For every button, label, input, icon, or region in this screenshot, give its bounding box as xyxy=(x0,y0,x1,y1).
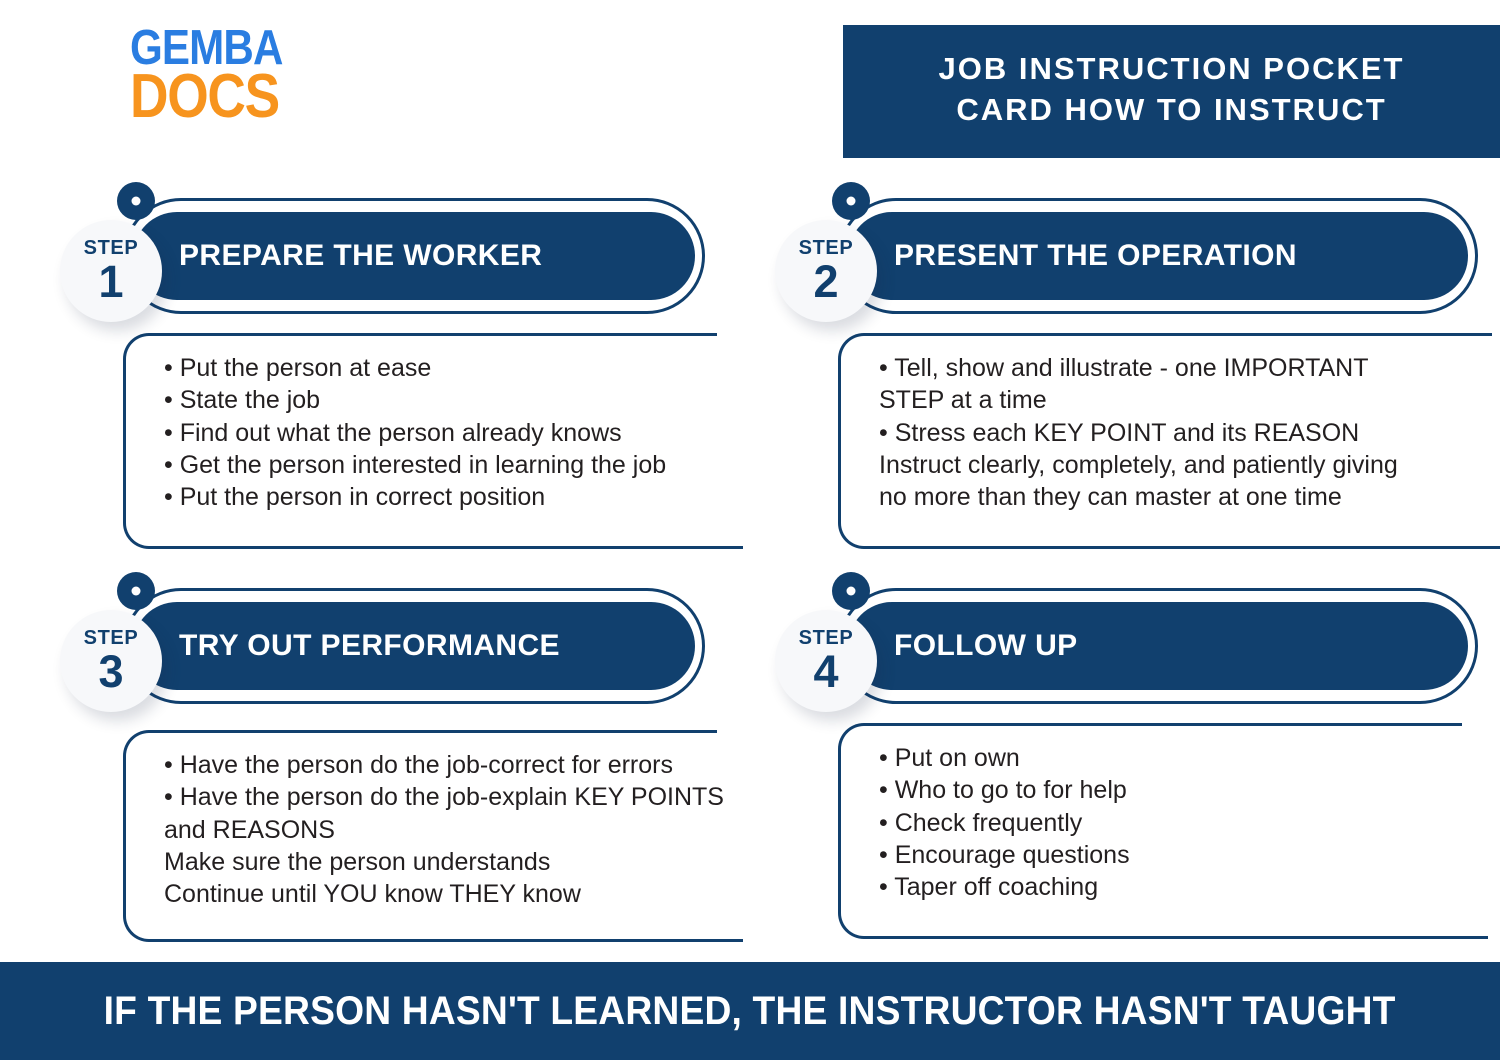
border-mask xyxy=(1492,332,1500,338)
step-1-badge-number: 1 xyxy=(98,259,123,304)
step-2-body: • Tell, show and illustrate - one IMPORT… xyxy=(838,333,1500,549)
step-2-line-3: • Stress each KEY POINT and its REASON xyxy=(879,417,1500,449)
step-4-title: FOLLOW UP xyxy=(848,629,1078,663)
step-1-body: • Put the person at ease • State the job… xyxy=(123,333,743,549)
step-2-line-4: Instruct clearly, completely, and patien… xyxy=(879,449,1500,481)
header-title-line-1: JOB INSTRUCTION POCKET xyxy=(939,49,1405,90)
step-2-line-5: no more than they can master at one time xyxy=(879,481,1500,513)
step-3-body: • Have the person do the job-correct for… xyxy=(123,730,743,942)
footer-slogan: IF THE PERSON HASN'T LEARNED, THE INSTRU… xyxy=(104,989,1396,1034)
step-4-line-1: • Put on own xyxy=(879,742,1488,774)
step-3-title: TRY OUT PERFORMANCE xyxy=(133,629,560,663)
step-2-header-pill: PRESENT THE OPERATION xyxy=(848,212,1468,300)
step-3-line-5: Continue until YOU know THEY know xyxy=(164,878,743,910)
step-4-line-5: • Taper off coaching xyxy=(879,871,1488,903)
step-2-title: PRESENT THE OPERATION xyxy=(848,239,1297,273)
step-card-3: TRY OUT PERFORMANCE STEP 3 • Have the pe… xyxy=(45,580,705,945)
border-mask xyxy=(1462,722,1492,728)
header-title-line-2: CARD HOW TO INSTRUCT xyxy=(956,90,1386,131)
step-4-badge-label: STEP xyxy=(799,628,854,648)
header-banner: JOB INSTRUCTION POCKET CARD HOW TO INSTR… xyxy=(843,25,1500,158)
step-card-1: PREPARE THE WORKER STEP 1 • Put the pers… xyxy=(45,190,705,555)
step-3-badge: STEP 3 xyxy=(60,610,162,712)
step-1-line-2: • State the job xyxy=(164,384,743,416)
step-4-line-2: • Who to go to for help xyxy=(879,774,1488,806)
gemba-docs-logo: GEMBA DOCS xyxy=(130,28,307,123)
logo-word-docs: DOCS xyxy=(130,72,283,123)
step-1-line-4: • Get the person interested in learning … xyxy=(164,449,743,481)
step-2-badge: STEP 2 xyxy=(775,220,877,322)
step-1-line-1: • Put the person at ease xyxy=(164,352,743,384)
keyring-dot-icon xyxy=(117,182,155,220)
infographic-page: GEMBA DOCS JOB INSTRUCTION POCKET CARD H… xyxy=(0,0,1500,1060)
step-card-4: FOLLOW UP STEP 4 • Put on own • Who to g… xyxy=(760,580,1420,945)
step-1-line-3: • Find out what the person already knows xyxy=(164,417,743,449)
step-1-badge: STEP 1 xyxy=(60,220,162,322)
step-1-header-pill: PREPARE THE WORKER xyxy=(133,212,695,300)
keyring-dot-icon xyxy=(832,182,870,220)
step-2-line-2: STEP at a time xyxy=(879,384,1500,416)
step-2-badge-number: 2 xyxy=(813,259,838,304)
step-4-line-4: • Encourage questions xyxy=(879,839,1488,871)
footer-banner: IF THE PERSON HASN'T LEARNED, THE INSTRU… xyxy=(0,962,1500,1060)
step-3-badge-number: 3 xyxy=(98,649,123,694)
keyring-dot-icon xyxy=(117,572,155,610)
step-1-line-5: • Put the person in correct position xyxy=(164,481,743,513)
step-3-badge-label: STEP xyxy=(84,628,139,648)
step-3-line-1: • Have the person do the job-correct for… xyxy=(164,749,743,781)
step-2-line-1: • Tell, show and illustrate - one IMPORT… xyxy=(879,352,1500,384)
keyring-dot-icon xyxy=(832,572,870,610)
step-4-line-3: • Check frequently xyxy=(879,807,1488,839)
step-2-badge-label: STEP xyxy=(799,238,854,258)
step-4-header-pill: FOLLOW UP xyxy=(848,602,1468,690)
step-card-2: PRESENT THE OPERATION STEP 2 • Tell, sho… xyxy=(760,190,1420,555)
step-4-badge-number: 4 xyxy=(813,649,838,694)
step-3-line-4: Make sure the person understands xyxy=(164,846,743,878)
border-mask xyxy=(717,729,747,735)
step-3-line-2: • Have the person do the job-explain KEY… xyxy=(164,781,743,813)
step-4-badge: STEP 4 xyxy=(775,610,877,712)
step-1-badge-label: STEP xyxy=(84,238,139,258)
step-3-line-3: and REASONS xyxy=(164,814,743,846)
step-1-title: PREPARE THE WORKER xyxy=(133,239,542,273)
step-3-header-pill: TRY OUT PERFORMANCE xyxy=(133,602,695,690)
step-4-body: • Put on own • Who to go to for help • C… xyxy=(838,723,1488,939)
border-mask xyxy=(717,332,747,338)
